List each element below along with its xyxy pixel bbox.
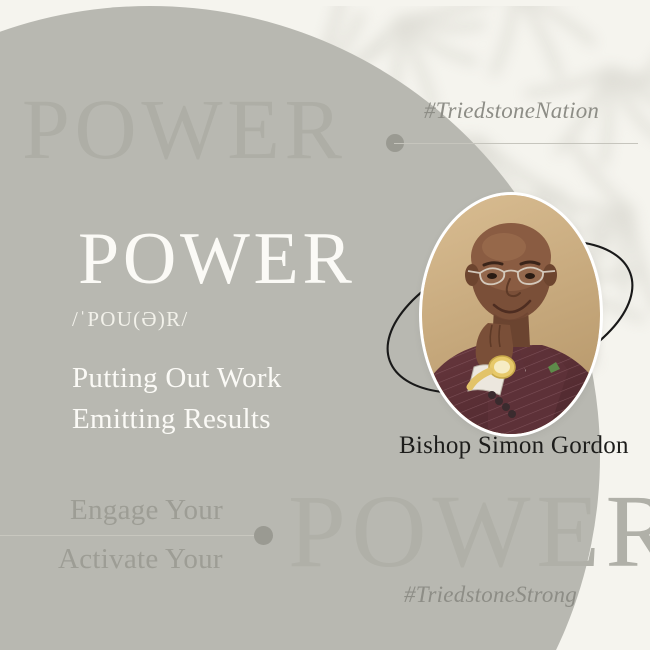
- portrait-photo: [422, 195, 600, 434]
- divider-line-bottom: [0, 535, 260, 536]
- poster-canvas: POWER POWER #TriedstoneNation POWER /ˈPO…: [0, 0, 650, 650]
- bullet-dot-icon: [254, 526, 273, 545]
- hashtag-nation: #TriedstoneNation: [424, 98, 599, 124]
- cta-engage-your: Engage Your: [70, 494, 223, 527]
- page-title: POWER: [78, 222, 356, 296]
- watermark-power-bottom: POWER: [288, 480, 650, 584]
- phonetic-pronunciation: /ˈPOU(Ə)R/: [72, 307, 188, 332]
- top-edge-sliver: [0, 0, 650, 6]
- cta-activate-your: Activate Your: [58, 543, 223, 576]
- divider-line-top: [394, 143, 638, 144]
- watermark-power-top: POWER: [22, 86, 347, 172]
- tagline-block: Putting Out Work Emitting Results: [72, 358, 282, 440]
- tagline-line-1: Putting Out Work: [72, 358, 282, 399]
- tagline-line-2: Emitting Results: [72, 399, 282, 440]
- speaker-name: Bishop Simon Gordon: [399, 432, 629, 460]
- avatar: [422, 195, 600, 434]
- hashtag-strong: #TriedstoneStrong: [404, 582, 577, 608]
